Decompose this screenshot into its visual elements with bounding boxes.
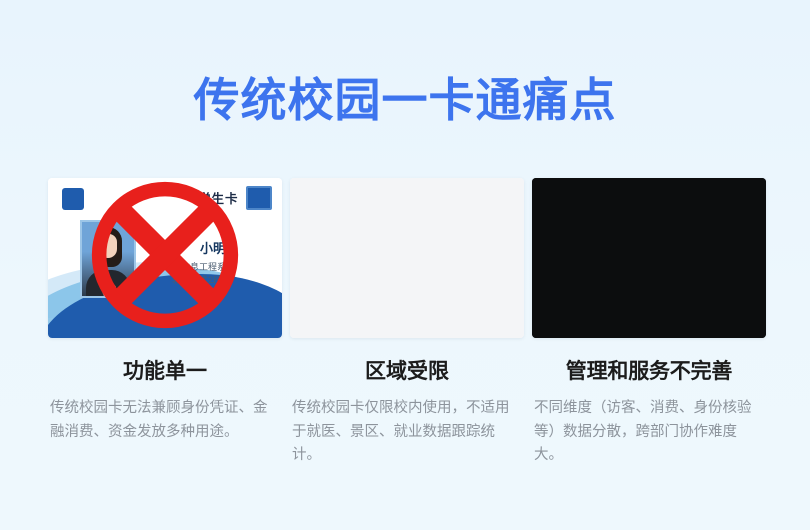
page-title: 传统校园一卡通痛点 (0, 77, 810, 123)
student-id-card-image: 学生卡 小明 23级信息工程系 软件技术2班 (48, 178, 282, 338)
map-image (290, 178, 524, 338)
pain-point-column-1: 学生卡 小明 23级信息工程系 软件技术2班 功能单一 传统校园卡无法兼顾身份凭… (48, 178, 282, 444)
pain-point-heading-1: 功能单一 (48, 360, 282, 383)
pain-point-heading-2: 区域受限 (290, 360, 524, 383)
pain-point-column-3: 管理和服务不完善 不同维度（访客、消费、身份核验等）数据分散，跨部门协作难度大。 (532, 178, 766, 468)
pain-point-body-1: 传统校园卡无法兼顾身份凭证、金融消费、资金发放多种用途。 (48, 397, 282, 444)
overwhelmed-worker-illustration (532, 178, 766, 338)
pain-point-body-3: 不同维度（访客、消费、身份核验等）数据分散，跨部门协作难度大。 (532, 397, 766, 467)
map-background (290, 178, 524, 338)
illustration-background (532, 178, 766, 338)
red-prohibition-x-icon (88, 178, 243, 332)
slide-canvas: 传统校园一卡通痛点 学生卡 小明 23级信息工程系 软件技术2班 (0, 0, 810, 530)
pain-point-column-2: 区域受限 传统校园卡仅限校内使用，不适用于就医、景区、就业数据跟踪统计。 (290, 178, 524, 468)
pain-point-body-2: 传统校园卡仅限校内使用，不适用于就医、景区、就业数据跟踪统计。 (290, 397, 524, 467)
school-logo-icon (62, 188, 84, 210)
id-card-chip-icon (246, 186, 272, 210)
pain-point-heading-3: 管理和服务不完善 (532, 360, 766, 383)
